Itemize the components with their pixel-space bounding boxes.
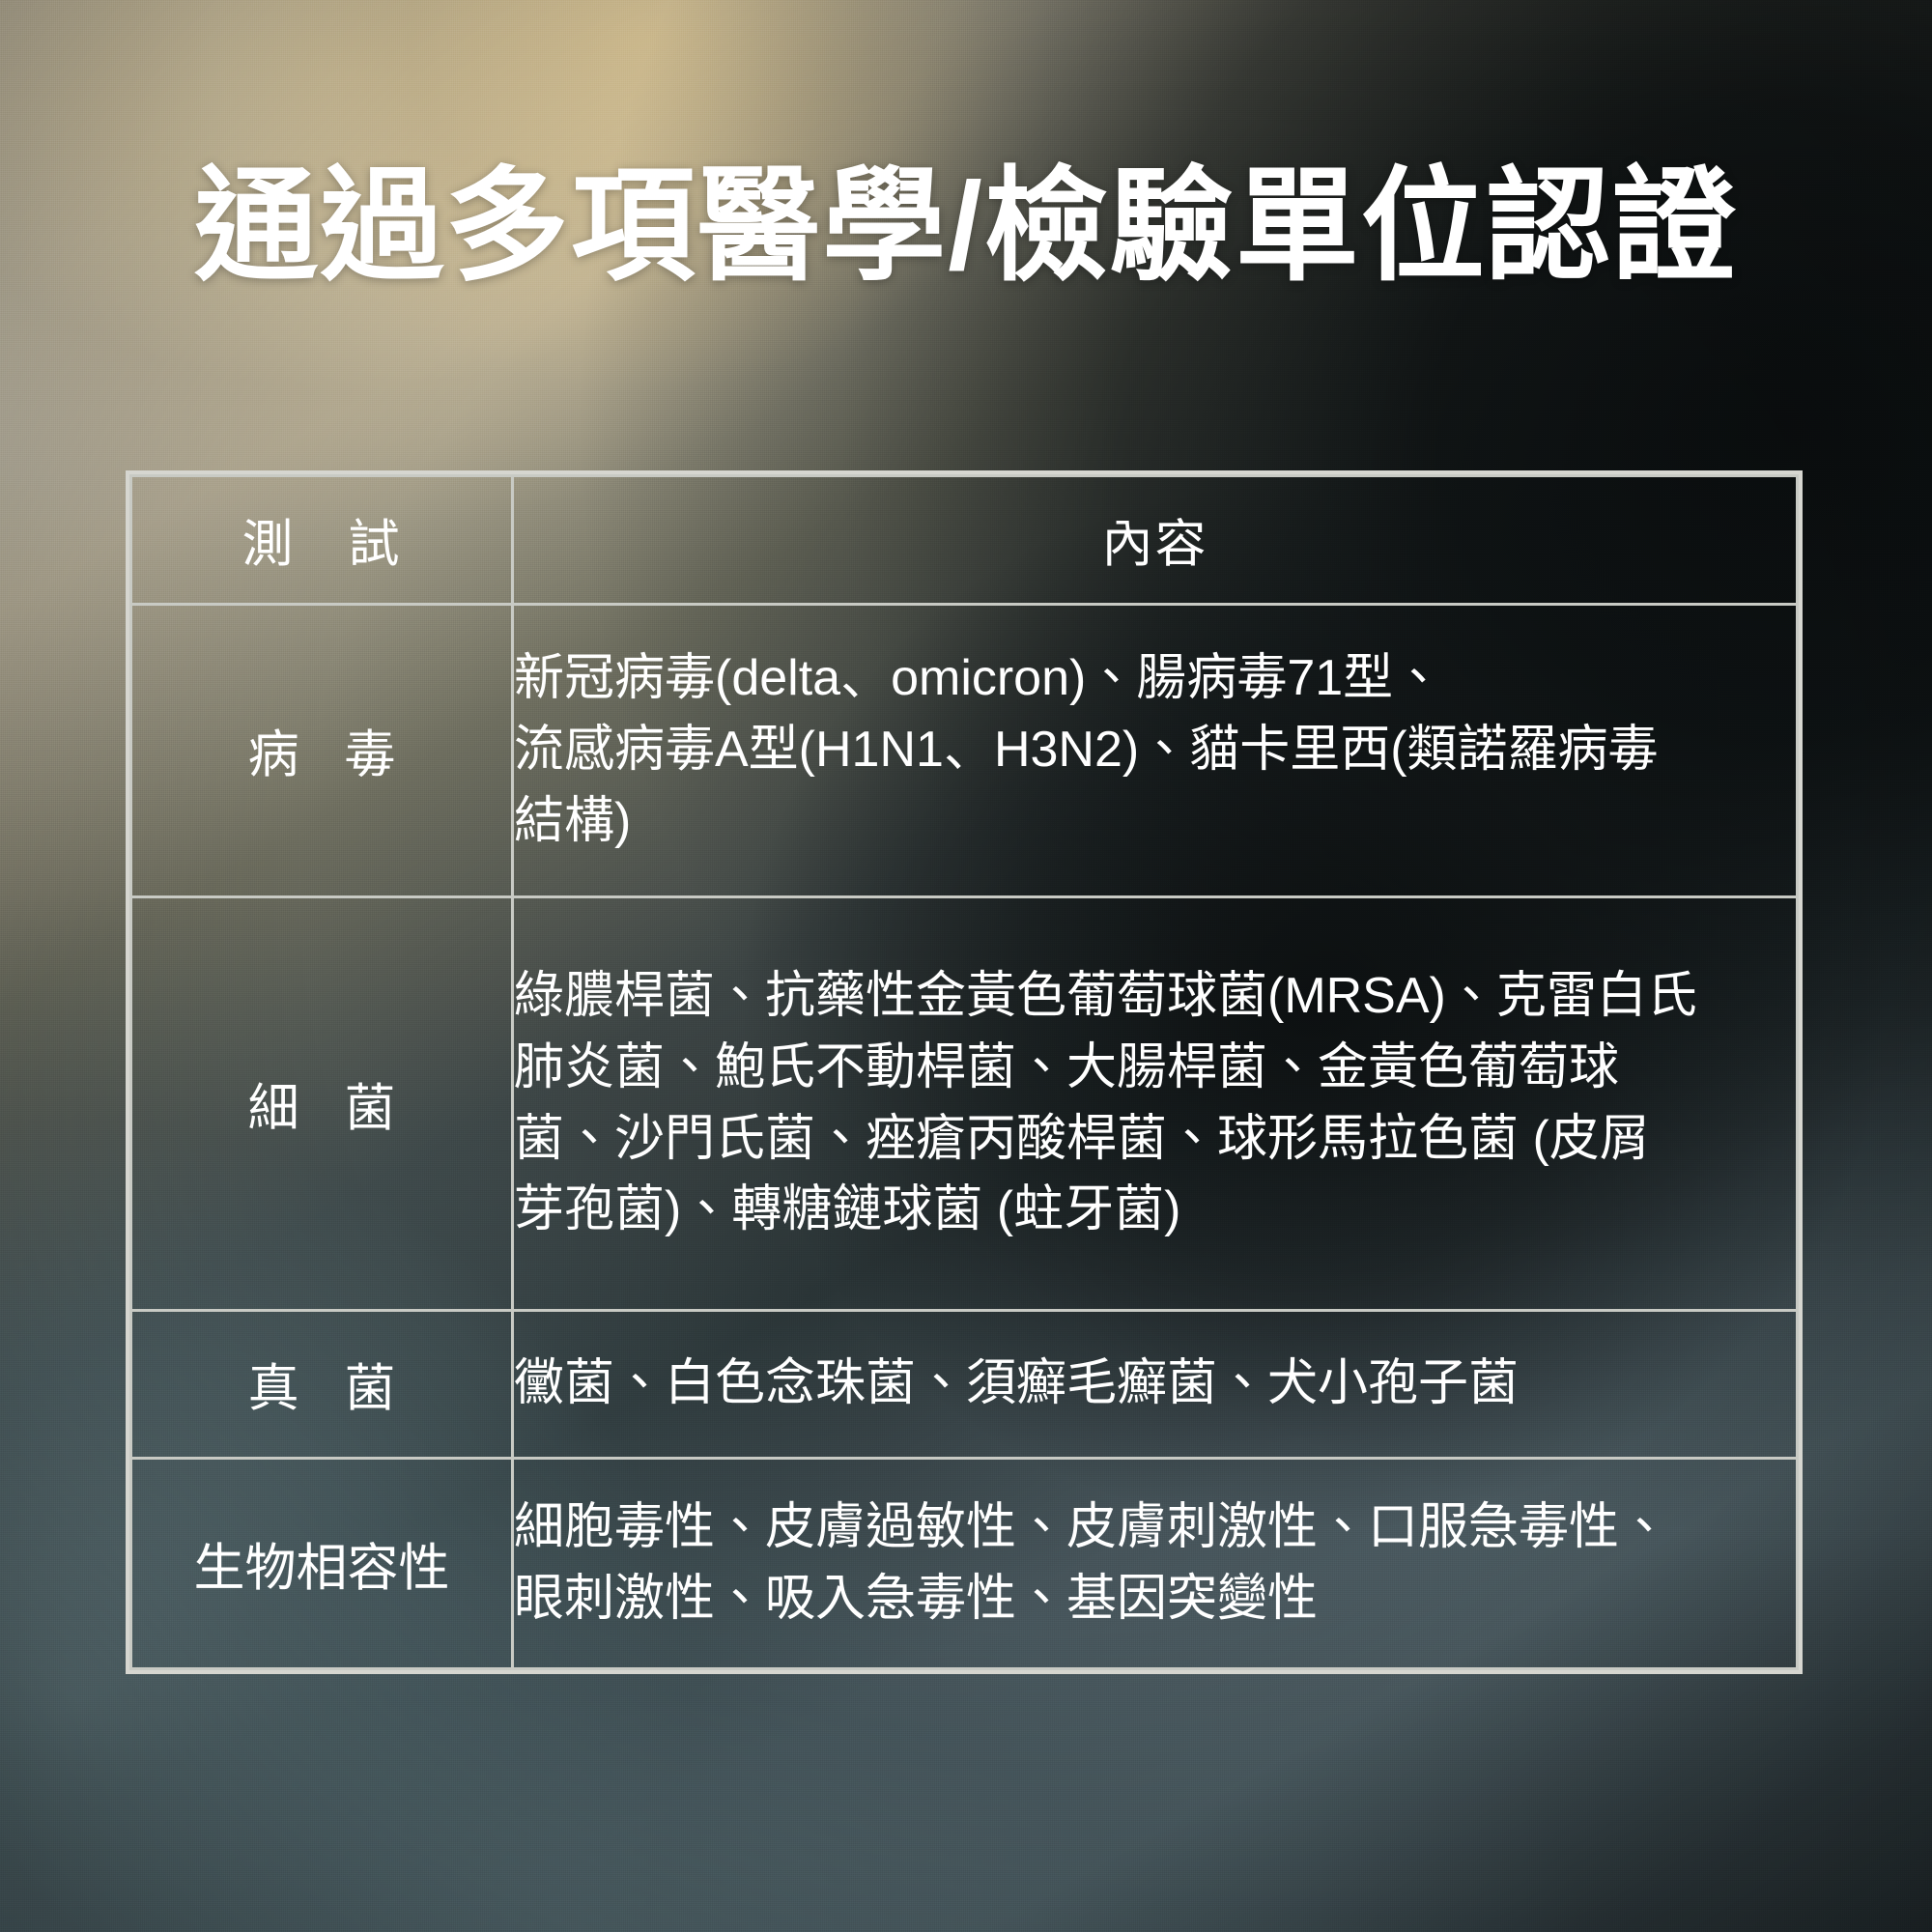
content-line: 綠膿桿菌、抗藥性金黃色葡萄球菌(MRSA)、克雷白氏 [514, 961, 1796, 1033]
column-header-test: 測 試 [131, 476, 513, 605]
certification-table: 測 試 內容 病 毒 新冠病毒(delta、omicron)、腸病毒71型、 流… [126, 470, 1803, 1674]
column-header-content: 內容 [513, 476, 1798, 605]
row-content-bacteria: 綠膿桿菌、抗藥性金黃色葡萄球菌(MRSA)、克雷白氏 肺炎菌、鮑氏不動桿菌、大腸… [513, 897, 1798, 1311]
table-row: 細 菌 綠膿桿菌、抗藥性金黃色葡萄球菌(MRSA)、克雷白氏 肺炎菌、鮑氏不動桿… [131, 897, 1798, 1311]
content-line: 眼刺激性、吸入急毒性、基因突變性 [514, 1564, 1796, 1635]
table-header-row: 測 試 內容 [131, 476, 1798, 605]
table-row: 真 菌 黴菌、白色念珠菌、須癬毛癬菌、犬小孢子菌 [131, 1311, 1798, 1459]
content-line: 新冠病毒(delta、omicron)、腸病毒71型、 [514, 643, 1796, 715]
content-line: 細胞毒性、皮膚過敏性、皮膚刺激性、口服急毒性、 [514, 1492, 1796, 1564]
content-line: 黴菌、白色念珠菌、須癬毛癬菌、犬小孢子菌 [514, 1349, 1796, 1420]
content-line: 流感病毒A型(H1N1、H3N2)、貓卡里西(類諾羅病毒 [514, 715, 1796, 786]
page-title: 通過多項醫學/檢驗單位認證 [0, 162, 1932, 292]
row-label-bacteria: 細 菌 [131, 897, 513, 1311]
row-content-virus: 新冠病毒(delta、omicron)、腸病毒71型、 流感病毒A型(H1N1、… [513, 605, 1798, 897]
table-row: 病 毒 新冠病毒(delta、omicron)、腸病毒71型、 流感病毒A型(H… [131, 605, 1798, 897]
slide-canvas: 通過多項醫學/檢驗單位認證 測 試 內容 病 毒 新冠病毒(delta、omic… [0, 0, 1932, 1932]
content-line: 肺炎菌、鮑氏不動桿菌、大腸桿菌、金黃色葡萄球 [514, 1033, 1796, 1104]
content-line: 芽孢菌)、轉糖鏈球菌 (蛀牙菌) [514, 1175, 1796, 1246]
row-content-fungus: 黴菌、白色念珠菌、須癬毛癬菌、犬小孢子菌 [513, 1311, 1798, 1459]
row-label-biocompatibility: 生物相容性 [131, 1459, 513, 1669]
content-line: 菌、沙門氏菌、痤瘡丙酸桿菌、球形馬拉色菌 (皮屑 [514, 1104, 1796, 1176]
row-label-virus: 病 毒 [131, 605, 513, 897]
content-line: 結構) [514, 786, 1796, 858]
table-row: 生物相容性 細胞毒性、皮膚過敏性、皮膚刺激性、口服急毒性、 眼刺激性、吸入急毒性… [131, 1459, 1798, 1669]
row-content-biocompatibility: 細胞毒性、皮膚過敏性、皮膚刺激性、口服急毒性、 眼刺激性、吸入急毒性、基因突變性 [513, 1459, 1798, 1669]
row-label-fungus: 真 菌 [131, 1311, 513, 1459]
